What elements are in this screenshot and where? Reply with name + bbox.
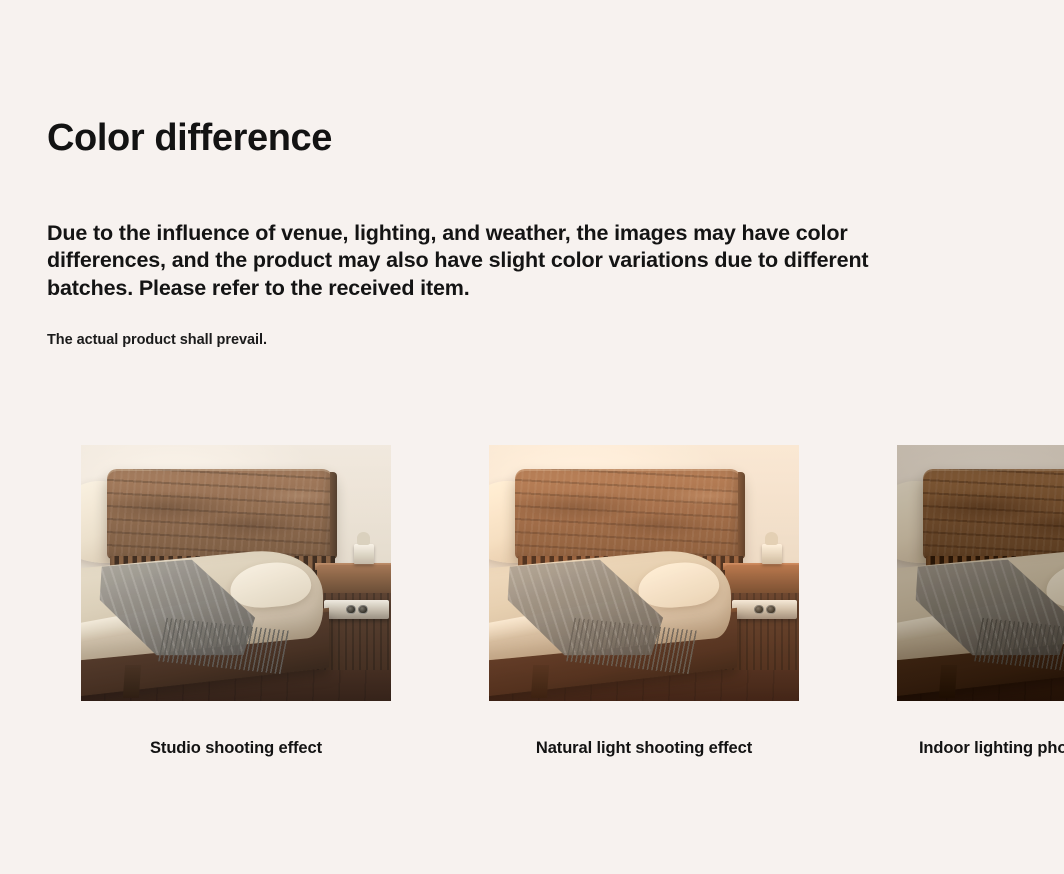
walnut-headboard	[107, 469, 333, 559]
photo-gallery: Studio shooting effect	[41, 429, 1005, 774]
lead-paragraph: Due to the influence of venue, lighting,…	[47, 220, 917, 303]
photo-card-indoor-lighting: Indoor lighting photography effect	[897, 445, 1064, 758]
color-difference-page: Color difference Due to the influence of…	[0, 0, 1064, 874]
photo-caption-indoor-lighting: Indoor lighting photography effect	[919, 739, 1064, 758]
stereo-speaker-right	[358, 605, 368, 615]
stereo-speaker-right	[766, 605, 776, 615]
photo-caption-natural-light: Natural light shooting effect	[536, 739, 752, 758]
photo-thumbnail-studio[interactable]	[81, 445, 391, 701]
nightstand	[317, 565, 391, 593]
stereo-speaker-left	[346, 605, 356, 615]
decor-object	[354, 544, 374, 564]
walnut-headboard	[923, 469, 1064, 559]
photo-caption-studio: Studio shooting effect	[150, 739, 322, 758]
photo-thumbnail-natural-light[interactable]	[489, 445, 799, 701]
bedroom-scene-illustration	[897, 445, 1064, 701]
photo-card-studio: Studio shooting effect	[81, 445, 391, 758]
sub-note: The actual product shall prevail.	[47, 332, 267, 348]
walnut-headboard	[515, 469, 741, 559]
bedroom-scene-illustration	[489, 445, 799, 701]
vintage-stereo	[324, 600, 389, 619]
decor-object	[762, 544, 782, 564]
bed-leg	[939, 665, 957, 698]
page-title: Color difference	[47, 117, 332, 160]
nightstand	[725, 565, 799, 593]
photo-card-natural-light: Natural light shooting effect	[489, 445, 799, 758]
bedroom-scene-illustration	[81, 445, 391, 701]
bed-leg	[531, 665, 549, 698]
stereo-speaker-left	[754, 605, 764, 615]
bed-leg	[123, 665, 141, 698]
photo-thumbnail-indoor-lighting[interactable]	[897, 445, 1064, 701]
vintage-stereo	[732, 600, 797, 619]
